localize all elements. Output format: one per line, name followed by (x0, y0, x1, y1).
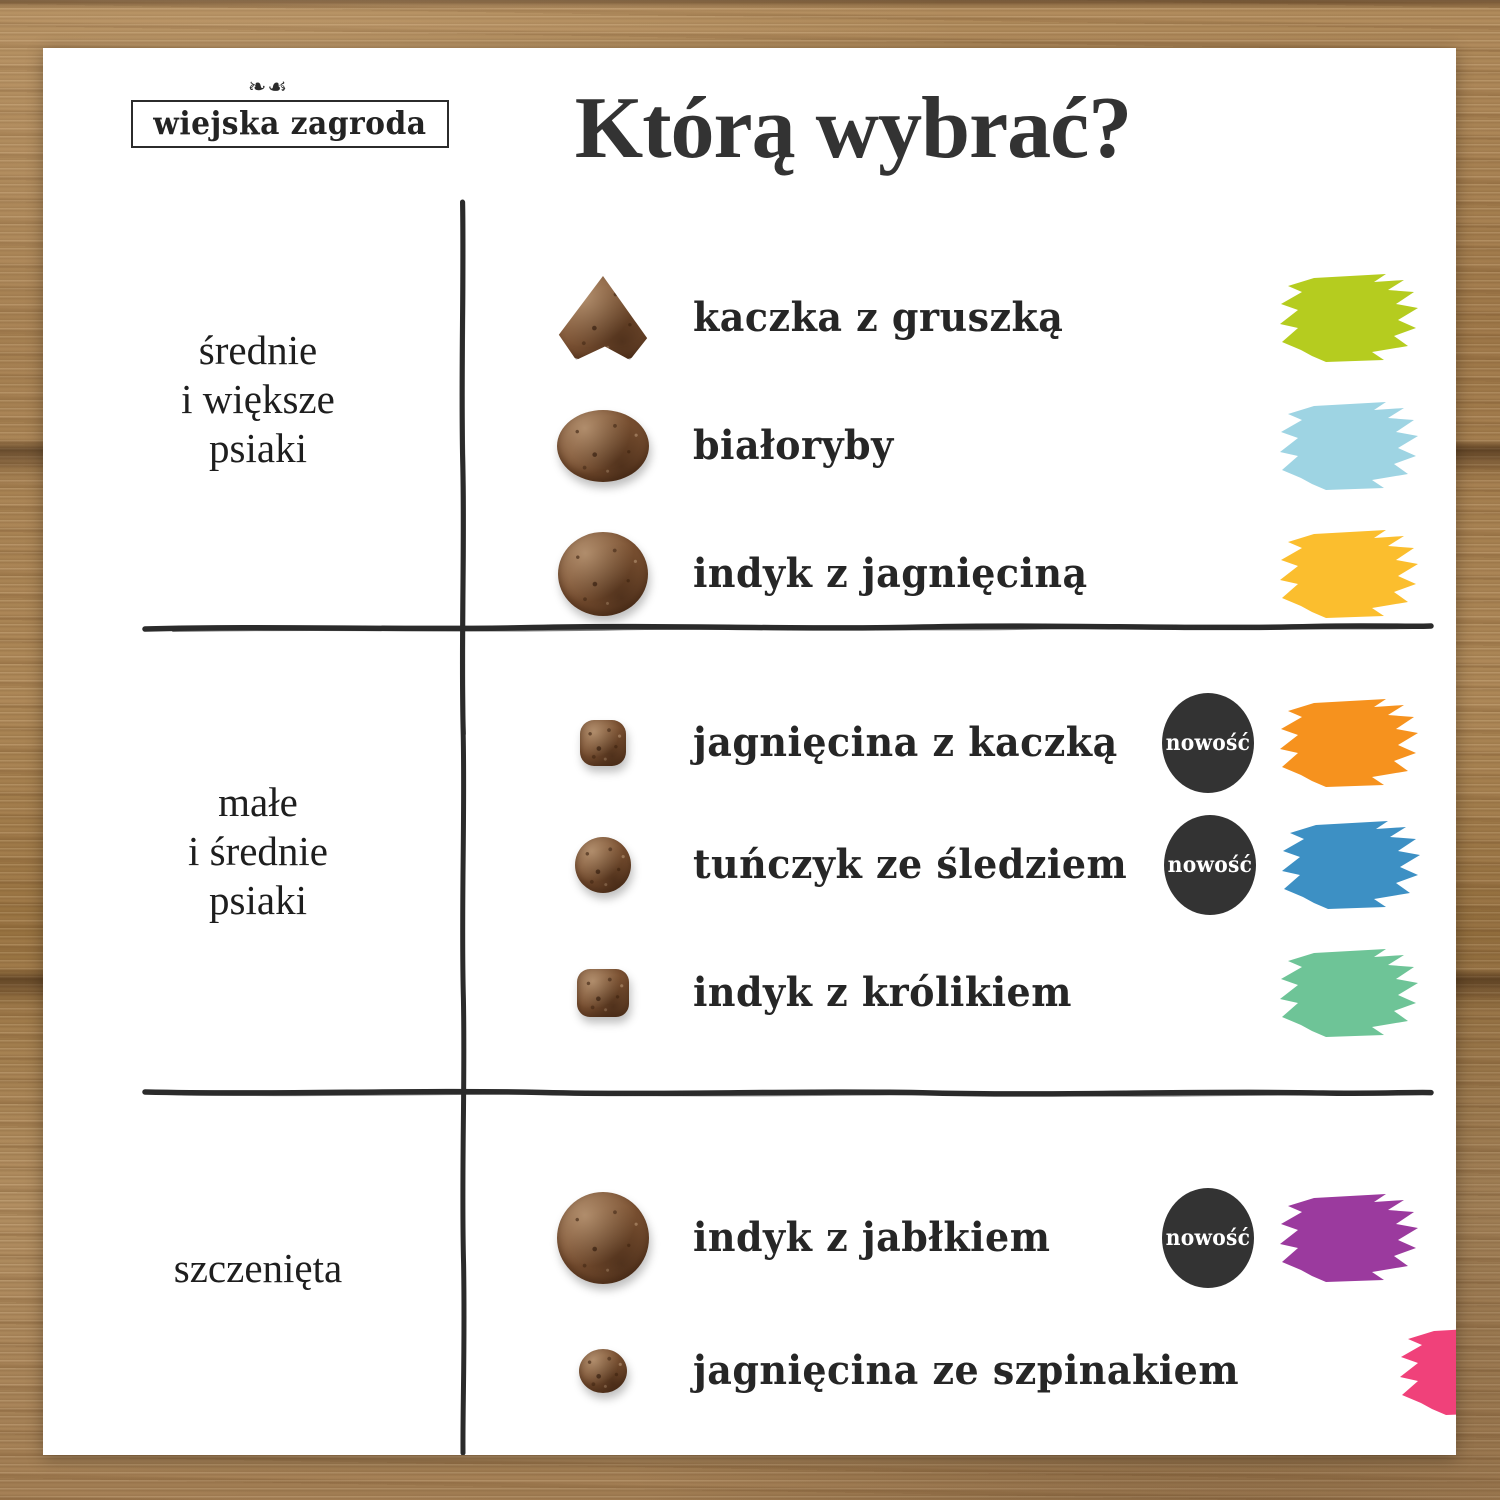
product-name: tuńczyk ze śledziem (693, 842, 1127, 888)
color-swatch (1268, 691, 1428, 795)
badge-slot: nowość (1268, 1316, 1388, 1426)
group-label-small-medium-dogs: małe i średnie psiaki (93, 778, 423, 925)
small-square-kibble-icon (580, 720, 626, 766)
product-name: jagnięcina ze szpinakiem (693, 1348, 1239, 1394)
color-swatch (1268, 522, 1428, 626)
product-row[interactable]: kaczka z gruszką nowość (513, 263, 1443, 373)
color-swatch-slot (1268, 1183, 1443, 1293)
kibble-image (513, 688, 693, 798)
kibble-image (513, 263, 693, 373)
product-row[interactable]: indyk z jagnięciną nowość (513, 519, 1443, 629)
product-row[interactable]: tuńczyk ze śledziem nowość (513, 810, 1443, 920)
color-swatch (1268, 1186, 1428, 1290)
group-label-line: małe i średnie psiaki (93, 778, 423, 925)
color-swatch-slot (1388, 1316, 1456, 1426)
product-name: kaczka z gruszką (693, 295, 1125, 341)
badge-slot: nowość (1148, 519, 1268, 629)
badge-slot: nowość (1148, 688, 1268, 798)
color-swatch (1268, 266, 1428, 370)
large-round-kibble-icon (557, 1192, 649, 1284)
color-swatch (1268, 941, 1428, 1045)
color-swatch-slot (1268, 688, 1443, 798)
product-row[interactable]: białoryby nowość (513, 391, 1443, 501)
group-label-puppies: szczenięta (93, 1244, 423, 1293)
color-swatch (1270, 813, 1430, 917)
product-name: indyk z jabłkiem (693, 1215, 1125, 1261)
color-swatch-slot (1270, 810, 1445, 920)
color-swatch (1268, 394, 1428, 498)
kibble-image (513, 938, 693, 1048)
product-row[interactable]: jagnięcina z kaczką nowość (513, 688, 1443, 798)
page-title: Którą wybrać? (473, 73, 1233, 185)
new-badge: nowość (1164, 815, 1256, 915)
color-swatch-slot (1268, 263, 1443, 373)
new-badge: nowość (1162, 1188, 1254, 1288)
product-name: indyk z królikiem (693, 970, 1125, 1016)
product-row[interactable]: indyk z jabłkiem nowość (513, 1183, 1443, 1293)
oval-kibble-icon (557, 410, 649, 482)
badge-slot: nowość (1148, 263, 1268, 373)
kibble-image (513, 1316, 693, 1426)
small-ball-kibble-icon (575, 837, 631, 893)
kibble-image (513, 810, 693, 920)
brand-logo: ❧☙ wiejska zagroda (131, 80, 405, 148)
infographic-card: ❧☙ wiejska zagroda Którą wybrać? średnie… (43, 48, 1456, 1455)
color-swatch-slot (1268, 519, 1443, 629)
badge-slot: nowość (1148, 938, 1268, 1048)
new-badge: nowość (1162, 693, 1254, 793)
logo-text: wiejska zagroda (153, 106, 426, 140)
tiny-round-kibble-icon (579, 1349, 627, 1393)
small-square-kibble-icon (577, 969, 629, 1017)
badge-slot: nowość (1148, 391, 1268, 501)
color-swatch (1388, 1319, 1456, 1423)
vertical-divider-line (431, 200, 495, 1455)
kibble-image (513, 391, 693, 501)
color-swatch-slot (1268, 391, 1443, 501)
product-name: jagnięcina z kaczką (693, 720, 1125, 766)
badge-slot: nowość (1150, 810, 1270, 920)
group-divider-line-2 (143, 1080, 1433, 1104)
flourish-ornament-icon: ❧☙ (131, 80, 405, 100)
kibble-image (513, 1183, 693, 1293)
group-label-line: średnie i większe psiaki (93, 326, 423, 473)
product-name: białoryby (693, 423, 1125, 469)
group-label-medium-large-dogs: średnie i większe psiaki (93, 326, 423, 473)
round-kibble-icon (558, 532, 648, 616)
badge-slot: nowość (1148, 1183, 1268, 1293)
product-name: indyk z jagnięciną (693, 551, 1125, 597)
product-row[interactable]: indyk z królikiem nowość (513, 938, 1443, 1048)
group-label-line: szczenięta (93, 1244, 423, 1293)
kibble-image (513, 519, 693, 629)
triangle-kibble-icon (555, 276, 651, 360)
color-swatch-slot (1268, 938, 1443, 1048)
product-row[interactable]: jagnięcina ze szpinakiem nowość (513, 1316, 1443, 1426)
logo-frame: wiejska zagroda (131, 100, 449, 148)
